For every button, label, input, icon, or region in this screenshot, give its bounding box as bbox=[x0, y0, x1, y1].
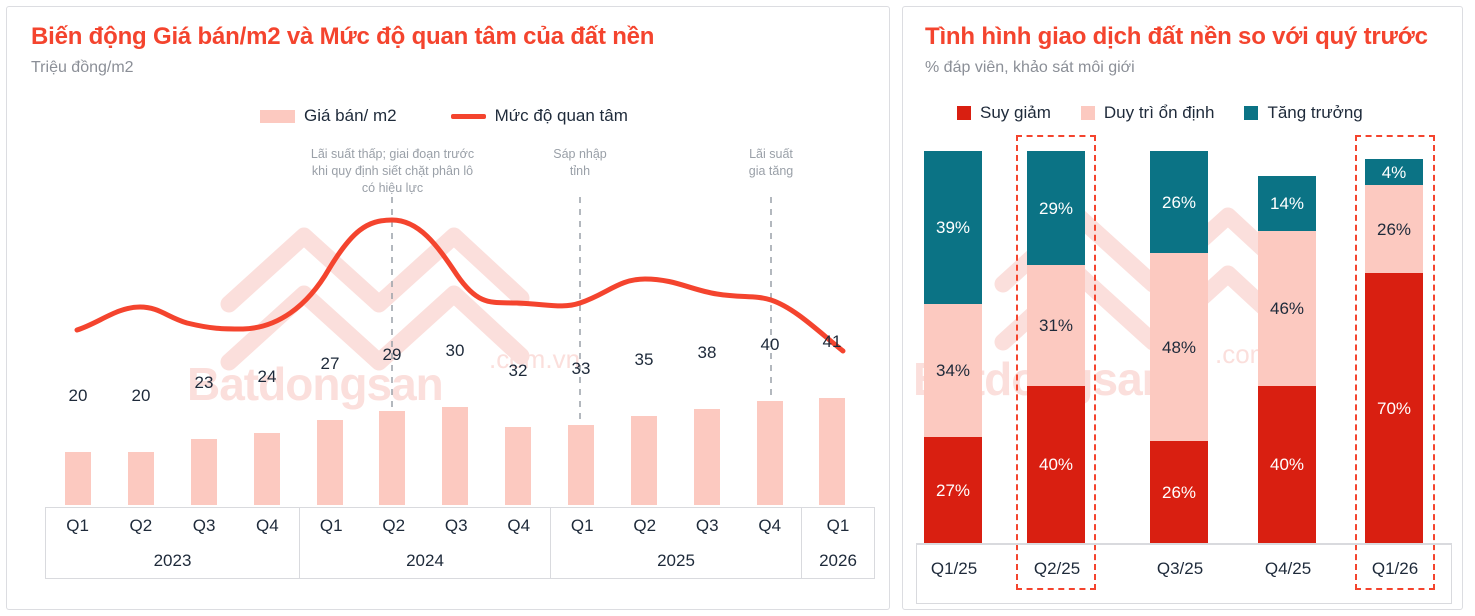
axis-quarter-label: Q2 bbox=[614, 516, 677, 536]
segment-duy-tri-on-dinh: 46% bbox=[1258, 231, 1316, 386]
axis-quarter-label: Q2 bbox=[109, 516, 172, 536]
axis-quarter-label: Q1 bbox=[802, 516, 874, 536]
segment-suy-giam: 27% bbox=[924, 437, 982, 543]
legend-item-suy-giam[interactable]: Suy giảm bbox=[957, 103, 1051, 123]
axis-quarter-label: Q4 bbox=[488, 516, 551, 536]
axis-label-q4-25: Q4/25 bbox=[1265, 559, 1311, 579]
segment-value-duy-tri: 46% bbox=[1270, 300, 1304, 317]
segment-value-tang-truong: 14% bbox=[1270, 195, 1304, 212]
legend-label-duy-tri-on-dinh: Duy trì ổn định bbox=[1104, 103, 1215, 123]
left-x-axis: Q1 Q2 Q3 Q4 2023 Q1 Q2 Q3 Q4 2024 Q1 bbox=[45, 507, 875, 579]
legend-label-tang-truong: Tăng trưởng bbox=[1267, 103, 1362, 123]
right-chart-subtitle: % đáp viên, khảo sát môi giới bbox=[925, 59, 1428, 77]
legend-label-suy-giam: Suy giảm bbox=[980, 103, 1051, 123]
segment-value-suy-giam: 40% bbox=[1039, 456, 1073, 473]
bar-q1-2024 bbox=[317, 420, 343, 505]
segment-value-suy-giam: 26% bbox=[1162, 484, 1196, 501]
bar-q4-2024 bbox=[505, 427, 531, 505]
axis-year-label: 2023 bbox=[46, 544, 299, 578]
axis-label-q2-25: Q2/25 bbox=[1034, 559, 1080, 579]
segment-suy-giam: 70% bbox=[1365, 273, 1423, 543]
bar-value-q2-2025: 35 bbox=[635, 350, 654, 370]
segment-duy-tri-on-dinh: 48% bbox=[1150, 253, 1208, 441]
stacked-column-q3-25: 26% 48% 26% bbox=[1150, 151, 1208, 543]
bar-value-q2-2023: 20 bbox=[132, 386, 151, 406]
axis-quarter-label: Q4 bbox=[236, 516, 299, 536]
bar-q2-2023 bbox=[128, 452, 154, 505]
legend-item-duy-tri-on-dinh[interactable]: Duy trì ổn định bbox=[1081, 103, 1215, 123]
right-chart-header: Tình hình giao dịch đất nền so với quý t… bbox=[925, 23, 1428, 77]
axis-group-2025: Q1 Q2 Q3 Q4 2025 bbox=[551, 508, 802, 578]
segment-value-duy-tri: 31% bbox=[1039, 317, 1073, 334]
segment-value-duy-tri: 48% bbox=[1162, 339, 1196, 356]
segment-duy-tri-on-dinh: 34% bbox=[924, 304, 982, 437]
bar-value-q3-2024: 30 bbox=[446, 341, 465, 361]
axis-quarter-label: Q1 bbox=[300, 516, 363, 536]
axis-quarter-label: Q1 bbox=[551, 516, 614, 536]
bar-q1-2023 bbox=[65, 452, 91, 505]
axis-label-q1-26: Q1/26 bbox=[1372, 559, 1418, 579]
axis-quarter-label: Q2 bbox=[363, 516, 426, 536]
axis-label-q1-25: Q1/25 bbox=[931, 559, 977, 579]
segment-duy-tri-on-dinh: 31% bbox=[1027, 265, 1085, 386]
bar-q4-2025 bbox=[757, 401, 783, 505]
axis-group-2024: Q1 Q2 Q3 Q4 2024 bbox=[300, 508, 551, 578]
segment-value-duy-tri: 34% bbox=[936, 362, 970, 379]
segment-value-tang-truong: 26% bbox=[1162, 194, 1196, 211]
axis-group-2026: Q1 2026 bbox=[802, 508, 874, 578]
axis-quarter-label: Q3 bbox=[676, 516, 739, 536]
axis-group-2023: Q1 Q2 Q3 Q4 2023 bbox=[46, 508, 300, 578]
segment-duy-tri-on-dinh: 26% bbox=[1365, 185, 1423, 273]
stacked-column-q2-25: 29% 31% 40% bbox=[1027, 151, 1085, 543]
segment-tang-truong: 4% bbox=[1365, 159, 1423, 185]
axis-quarter-label: Q3 bbox=[173, 516, 236, 536]
segment-value-tang-truong: 29% bbox=[1039, 200, 1073, 217]
bar-value-q3-2023: 23 bbox=[195, 373, 214, 393]
segment-value-suy-giam: 70% bbox=[1377, 400, 1411, 417]
bar-q1-2026 bbox=[819, 398, 845, 505]
segment-tang-truong: 26% bbox=[1150, 151, 1208, 253]
segment-tang-truong: 39% bbox=[924, 151, 982, 304]
segment-suy-giam: 26% bbox=[1150, 441, 1208, 543]
segment-value-tang-truong: 39% bbox=[936, 219, 970, 236]
bar-value-q2-2024: 29 bbox=[383, 345, 402, 365]
segment-value-suy-giam: 40% bbox=[1270, 456, 1304, 473]
axis-year-label: 2025 bbox=[551, 544, 801, 578]
bar-q3-2023 bbox=[191, 439, 217, 505]
interest-line-series bbox=[77, 220, 843, 351]
bar-q2-2025 bbox=[631, 416, 657, 505]
stacked-column-q1-25: 39% 34% 27% bbox=[924, 151, 982, 543]
segment-value-suy-giam: 27% bbox=[936, 482, 970, 499]
axis-label-q3-25: Q3/25 bbox=[1157, 559, 1203, 579]
legend-item-tang-truong[interactable]: Tăng trưởng bbox=[1244, 103, 1362, 123]
segment-suy-giam: 40% bbox=[1027, 386, 1085, 543]
axis-quarter-label: Q3 bbox=[425, 516, 488, 536]
bar-q1-2025 bbox=[568, 425, 594, 505]
bar-value-q1-2025: 33 bbox=[572, 359, 591, 379]
axis-quarter-label: Q4 bbox=[739, 516, 802, 536]
chart-panel-transaction-status: Batdongsan .com.vn Tình hình giao dịch đ… bbox=[902, 6, 1463, 610]
bar-q3-2025 bbox=[694, 409, 720, 505]
stacked-column-q4-25: 14% 46% 40% bbox=[1258, 176, 1316, 543]
bar-q2-2024 bbox=[379, 411, 405, 505]
bar-value-q1-2023: 20 bbox=[69, 386, 88, 406]
bar-value-q4-2024: 32 bbox=[509, 361, 528, 381]
legend-swatch-suy-giam-icon bbox=[957, 106, 971, 120]
segment-value-duy-tri: 26% bbox=[1377, 221, 1411, 238]
legend-swatch-duy-tri-icon bbox=[1081, 106, 1095, 120]
segment-suy-giam: 40% bbox=[1258, 386, 1316, 543]
bar-q4-2023 bbox=[254, 433, 280, 505]
segment-tang-truong: 29% bbox=[1027, 151, 1085, 265]
segment-value-tang-truong: 4% bbox=[1382, 164, 1407, 181]
right-chart-title: Tình hình giao dịch đất nền so với quý t… bbox=[925, 23, 1428, 51]
bar-value-q3-2025: 38 bbox=[698, 343, 717, 363]
bar-q3-2024 bbox=[442, 407, 468, 505]
bar-value-q4-2025: 40 bbox=[761, 335, 780, 355]
segment-tang-truong: 14% bbox=[1258, 176, 1316, 231]
bar-value-q1-2026: 41 bbox=[823, 332, 842, 352]
bar-value-q1-2024: 27 bbox=[321, 354, 340, 374]
chart-panel-price-interest: Batdongsan .com.vn Biến động Giá bán/m2 … bbox=[6, 6, 890, 610]
right-x-axis: Q1/25 Q2/25 Q3/25 Q4/25 Q1/26 bbox=[916, 544, 1452, 604]
legend-swatch-tang-truong-icon bbox=[1244, 106, 1258, 120]
axis-year-label: 2026 bbox=[802, 544, 874, 578]
axis-quarter-label: Q1 bbox=[46, 516, 109, 536]
right-chart-legend: Suy giảm Duy trì ổn định Tăng trưởng bbox=[957, 103, 1363, 123]
stacked-column-q1-26: 4% 26% 70% bbox=[1365, 159, 1423, 543]
axis-year-label: 2024 bbox=[300, 544, 550, 578]
dashboard-root: Batdongsan .com.vn Biến động Giá bán/m2 … bbox=[0, 0, 1475, 616]
bar-value-q4-2023: 24 bbox=[258, 367, 277, 387]
